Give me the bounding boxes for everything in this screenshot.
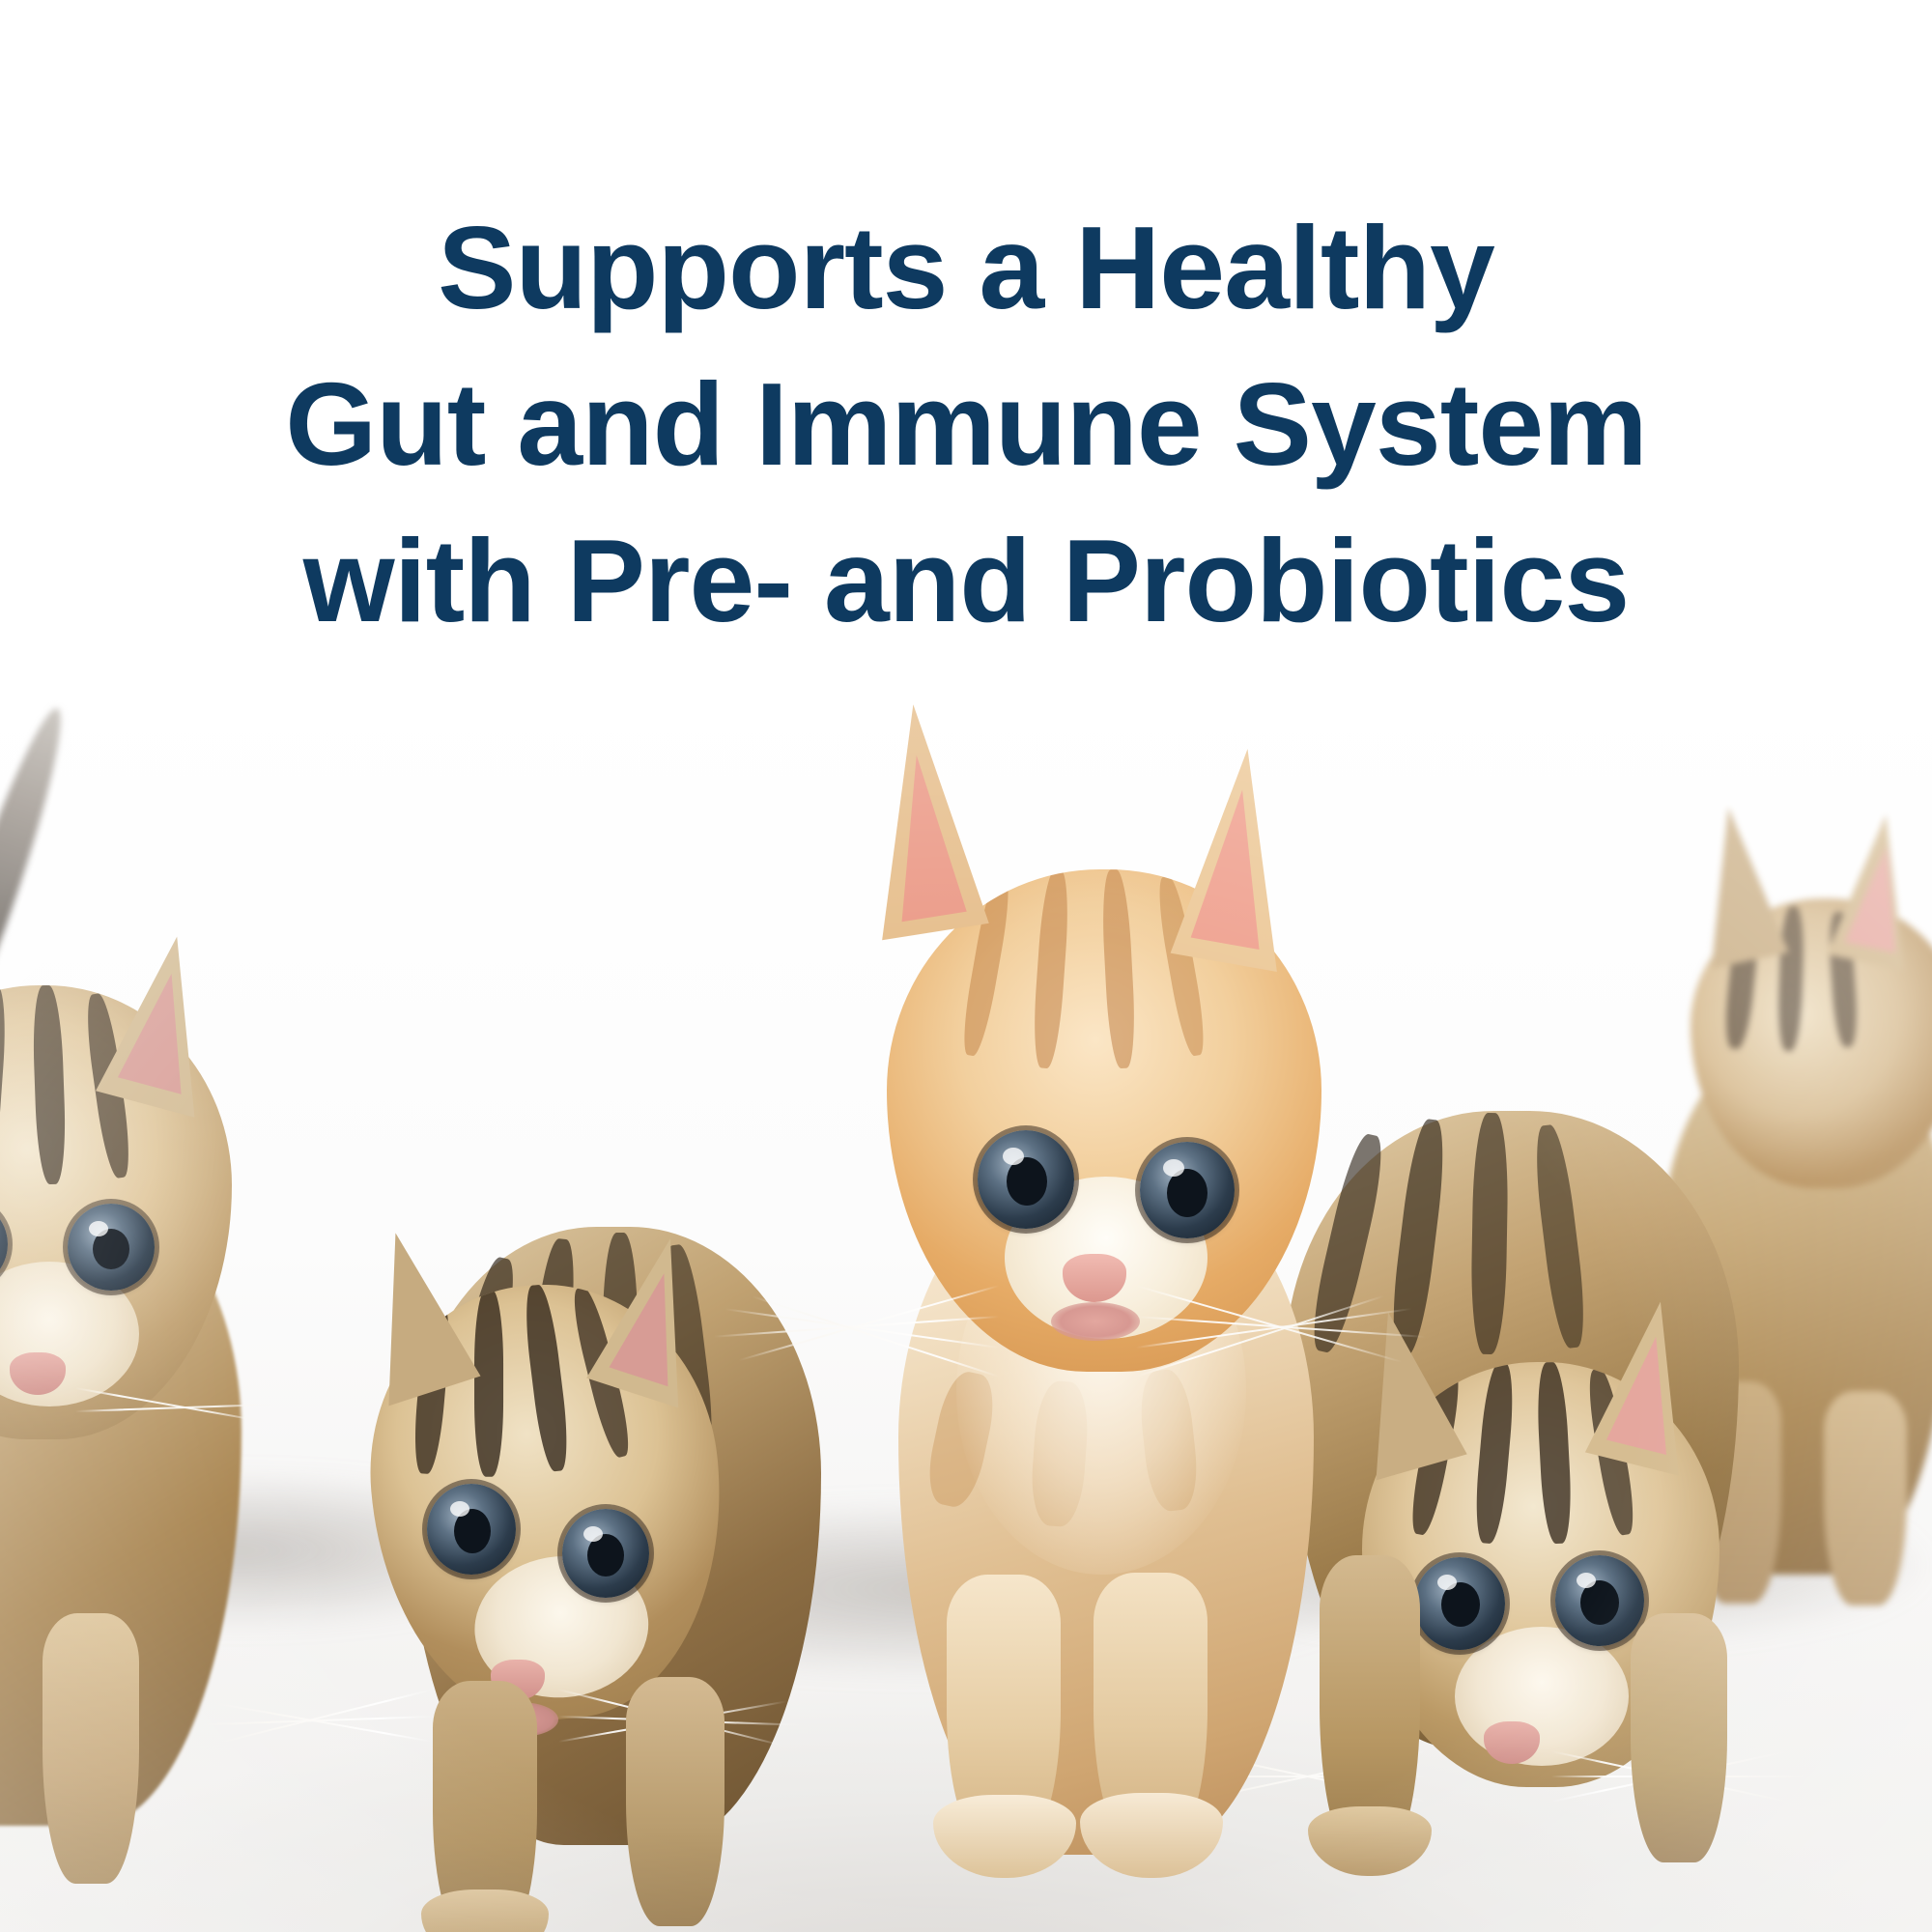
kitten3-paw-left	[933, 1795, 1076, 1878]
kitten2-eye-right	[562, 1509, 649, 1598]
kitten-center-orange-tabby	[811, 705, 1449, 1903]
kitten4-eye-right	[1555, 1555, 1644, 1646]
kitten4-forehead-stripe	[1472, 1362, 1517, 1545]
kitten4-muzzle	[1455, 1627, 1629, 1766]
kitten3-eye-left	[978, 1130, 1074, 1229]
kitten3-eye-right	[1140, 1142, 1235, 1238]
kitten2-forehead-stripe	[474, 1290, 503, 1477]
kitten1-forehead-stripe	[31, 985, 67, 1184]
kitten2-leg-right	[626, 1677, 724, 1926]
kitten2-eye-glint-right	[583, 1526, 603, 1542]
kitten4-eye-glint-right	[1577, 1573, 1596, 1588]
headline-line-3: with Pre- and Probiotics	[0, 502, 1932, 659]
kitten1-eye-glint-right	[89, 1221, 108, 1236]
kitten3-eye-glint-left	[1003, 1148, 1024, 1165]
kitten4-leg-right	[1631, 1613, 1727, 1862]
kitten5-leg	[1824, 1391, 1907, 1605]
kitten2-forehead-stripe	[521, 1283, 572, 1472]
headline-line-1: Supports a Healthy	[0, 189, 1932, 346]
kitten2-eye-left	[427, 1484, 516, 1575]
kitten1-forehead-stripe	[0, 985, 9, 1185]
kitten2-ear-left	[338, 1222, 480, 1406]
kitten3-paw-right	[1080, 1793, 1223, 1878]
kitten3-eye-glint-right	[1163, 1159, 1184, 1177]
kitten3-forehead-stripe	[1100, 869, 1138, 1069]
kitten2-paw-left	[421, 1889, 549, 1932]
headline-block: Supports a Healthy Gut and Immune System…	[0, 0, 1932, 686]
headline-line-2: Gut and Immune System	[0, 346, 1932, 502]
kitten3-mouth	[1051, 1302, 1140, 1341]
kitten1-eye-right	[68, 1204, 155, 1291]
kitten3-forehead-stripe	[1031, 869, 1071, 1069]
kitten-group-photo	[0, 686, 1932, 1932]
kitten4-forehead-stripe	[1535, 1362, 1574, 1545]
kitten1-leg-front-right	[43, 1613, 139, 1884]
kitten2-eye-glint-left	[450, 1501, 469, 1517]
product-banner: Supports a Healthy Gut and Immune System…	[0, 0, 1932, 1932]
kitten-second-dark-tabby	[319, 937, 860, 1932]
